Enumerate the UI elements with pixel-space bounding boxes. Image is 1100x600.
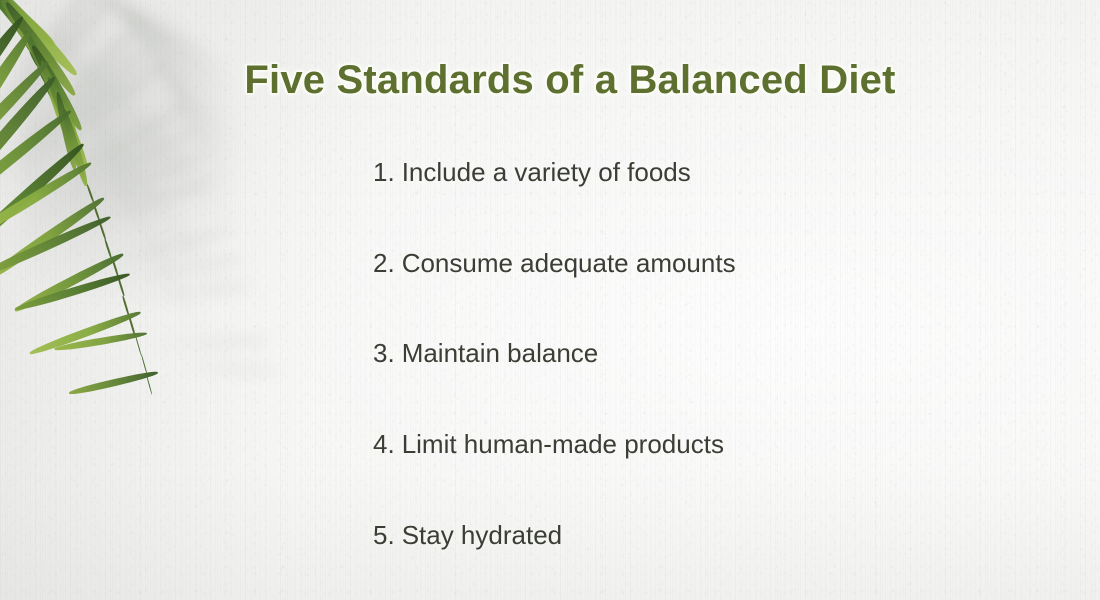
list-item-label: Stay hydrated (402, 520, 562, 550)
list-item: 5.Stay hydrated (373, 520, 1033, 551)
palm-leaflet (69, 369, 159, 396)
list-item: 4.Limit human-made products (373, 429, 1033, 460)
list-item: 1.Include a variety of foods (373, 157, 1033, 188)
palm-frond-stem (86, 183, 95, 203)
list-item-number: 4. (373, 429, 395, 459)
list-item-number: 3. (373, 338, 395, 368)
list-item: 2.Consume adequate amounts (373, 248, 1033, 279)
list-item: 3.Maintain balance (373, 338, 1033, 369)
list-item-number: 5. (373, 520, 395, 550)
slide-canvas: Five Standards of a Balanced Diet 1.Incl… (0, 0, 1100, 600)
list-item-number: 1. (373, 157, 395, 187)
list-item-label: Maintain balance (402, 338, 599, 368)
page-title: Five Standards of a Balanced Diet (0, 58, 1100, 103)
list-item-label: Consume adequate amounts (402, 248, 736, 278)
list-item-label: Limit human-made products (402, 429, 724, 459)
list-item-label: Include a variety of foods (402, 157, 691, 187)
list-item-number: 2. (373, 248, 395, 278)
standards-list: 1.Include a variety of foods2.Consume ad… (373, 157, 1033, 550)
